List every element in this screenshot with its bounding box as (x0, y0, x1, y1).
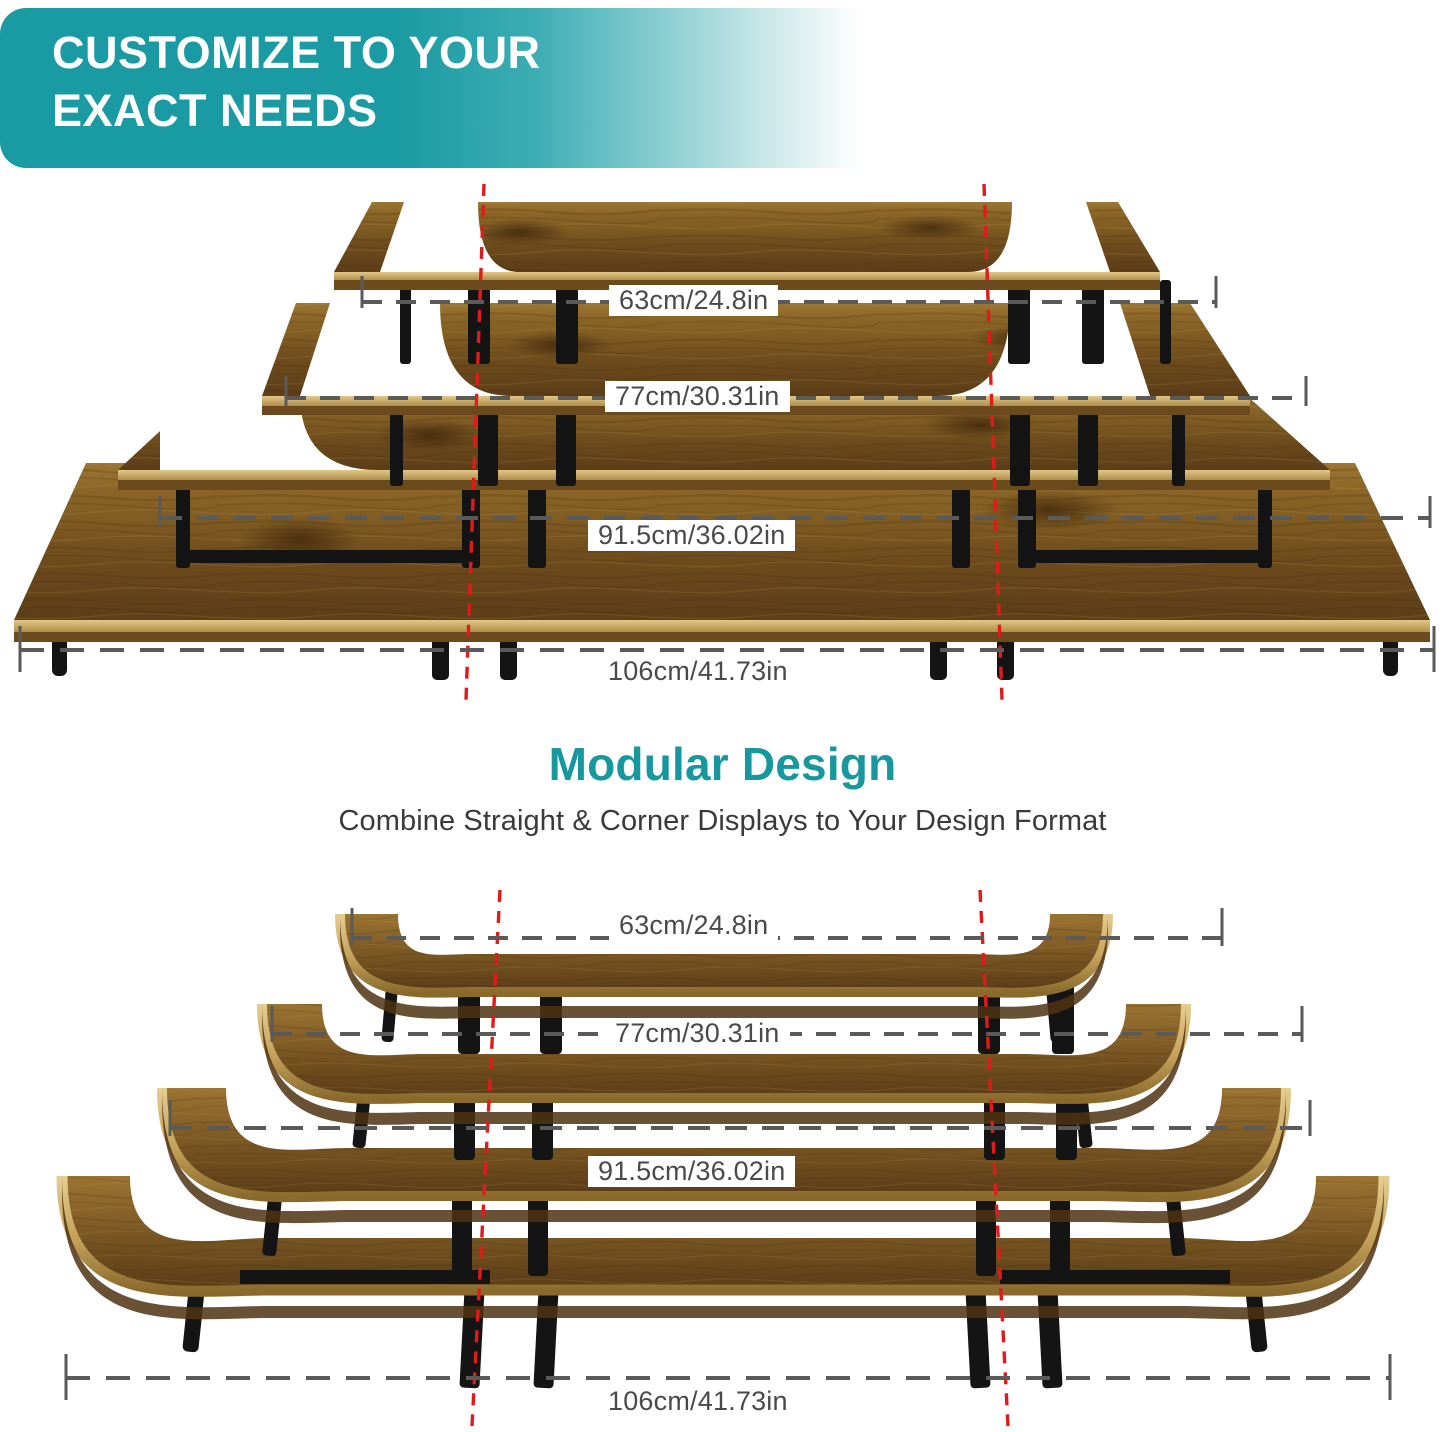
corner-dimension-label-tier-3: 91.5cm/36.02in (588, 1156, 795, 1187)
corner-display-illustration (0, 878, 1445, 1432)
corner-dimension-label-tier-4: 106cm/41.73in (598, 1386, 798, 1417)
corner-dimension-label-tier-1: 63cm/24.8in (609, 910, 778, 941)
corner-dimension-label-tier-2: 77cm/30.31in (605, 1018, 790, 1049)
dimension-label-tier-3: 91.5cm/36.02in (588, 520, 795, 551)
infographic-page: CUSTOMIZE TO YOUR EXACT NEEDS (0, 0, 1445, 1432)
modular-design-subtitle: Combine Straight & Corner Displays to Yo… (0, 805, 1445, 838)
header-banner: CUSTOMIZE TO YOUR EXACT NEEDS (0, 8, 860, 168)
tier-4-shelf (14, 463, 1430, 680)
corner-display-diagram: 63cm/24.8in 77cm/30.31in 91.5cm/36.02in … (0, 878, 1445, 1432)
straight-display-diagram: 63cm/24.8in 77cm/30.31in 91.5cm/36.02in … (0, 180, 1445, 710)
modular-design-title: Modular Design (0, 738, 1445, 791)
banner-headline: CUSTOMIZE TO YOUR EXACT NEEDS (52, 24, 752, 139)
modular-design-block: Modular Design Combine Straight & Corner… (0, 738, 1445, 838)
dimension-label-tier-4: 106cm/41.73in (598, 656, 798, 687)
dimension-label-tier-1: 63cm/24.8in (609, 285, 778, 316)
straight-display-illustration (0, 180, 1445, 710)
dimension-label-tier-2: 77cm/30.31in (605, 381, 790, 412)
